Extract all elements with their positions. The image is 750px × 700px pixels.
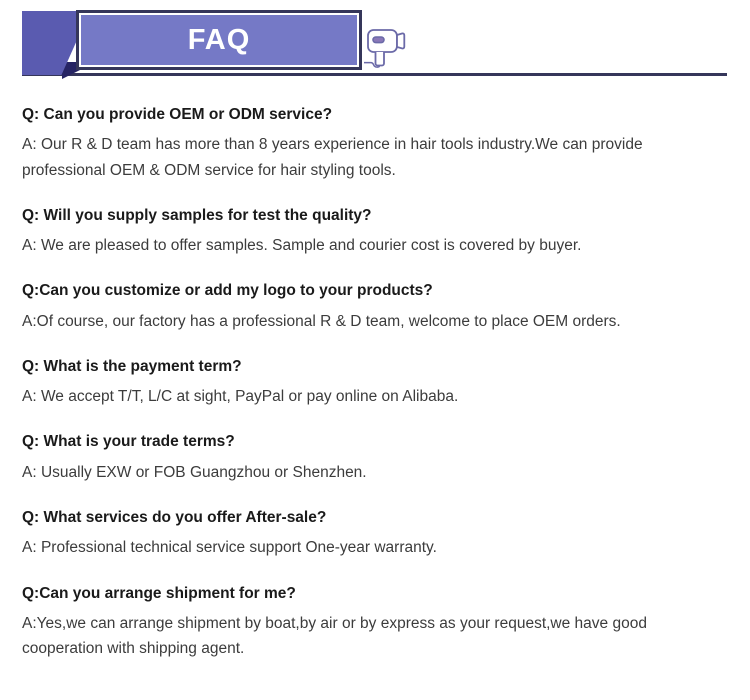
faq-answer: A: Professional technical service suppor… xyxy=(22,535,728,560)
faq-answer: A: We accept T/T, L/C at sight, PayPal o… xyxy=(22,384,728,409)
faq-item: Q: What is your trade terms? A: Usually … xyxy=(22,431,728,485)
faq-item: Q:Can you customize or add my logo to yo… xyxy=(22,280,728,334)
faq-item: Q: What is the payment term? A: We accep… xyxy=(22,356,728,410)
faq-item: Q:Can you arrange shipment for me? A:Yes… xyxy=(22,583,728,662)
faq-question: Q: Will you supply samples for test the … xyxy=(22,205,728,227)
faq-answer: A: Usually EXW or FOB Guangzhou or Shenz… xyxy=(22,460,728,485)
faq-question: Q: What services do you offer After-sale… xyxy=(22,507,728,529)
ribbon-title-plate: FAQ xyxy=(76,10,362,70)
page-title: FAQ xyxy=(188,26,251,55)
faq-item: Q: Will you supply samples for test the … xyxy=(22,205,728,259)
faq-question: Q:Can you customize or add my logo to yo… xyxy=(22,280,728,302)
header-divider-rule xyxy=(22,73,727,76)
faq-answer: A: We are pleased to offer samples. Samp… xyxy=(22,233,728,258)
faq-answer: A:Yes,we can arrange shipment by boat,by… xyxy=(22,611,728,661)
faq-list: Q: Can you provide OEM or ODM service? A… xyxy=(22,104,728,683)
faq-answer: A:Of course, our factory has a professio… xyxy=(22,309,728,334)
hair-dryer-icon xyxy=(364,26,410,68)
faq-item: Q: Can you provide OEM or ODM service? A… xyxy=(22,104,728,183)
faq-item: Q: What services do you offer After-sale… xyxy=(22,507,728,561)
faq-question: Q: What is your trade terms? xyxy=(22,431,728,453)
faq-question: Q: Can you provide OEM or ODM service? xyxy=(22,104,728,126)
faq-answer: A: Our R & D team has more than 8 years … xyxy=(22,132,728,182)
faq-header-banner: FAQ xyxy=(0,0,750,92)
faq-question: Q:Can you arrange shipment for me? xyxy=(22,583,728,605)
faq-question: Q: What is the payment term? xyxy=(22,356,728,378)
